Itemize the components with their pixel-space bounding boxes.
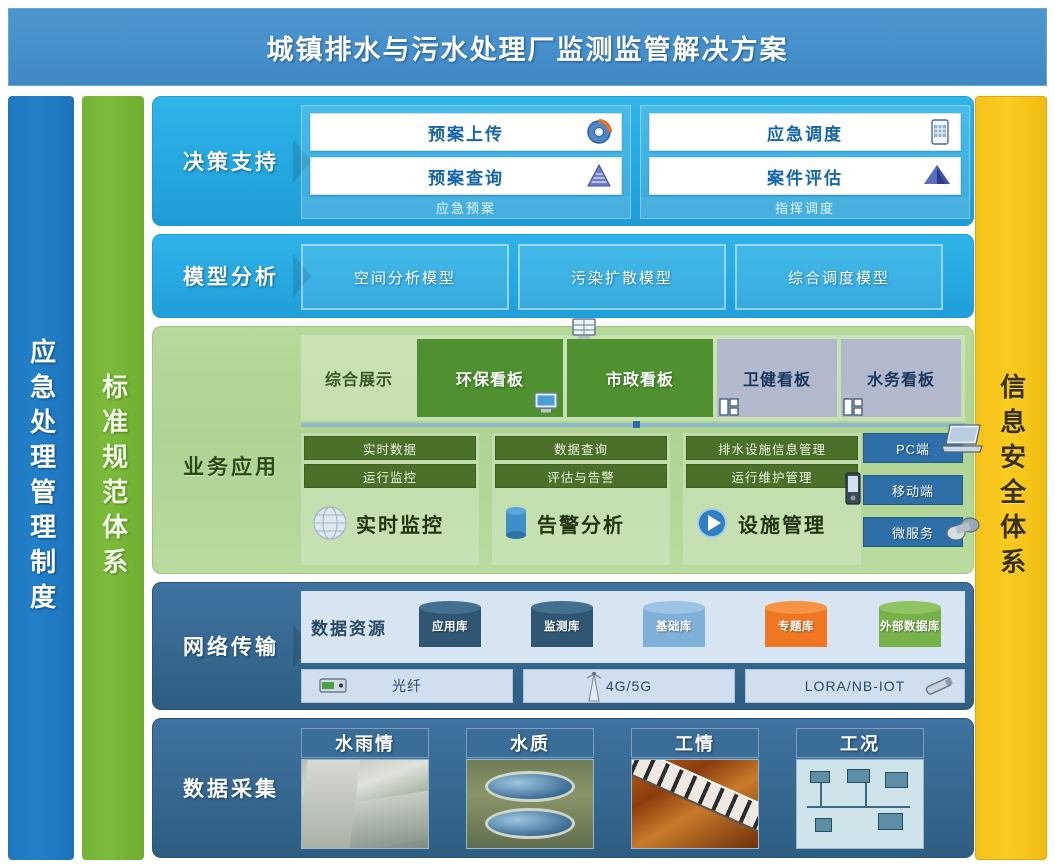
database-icon [501, 503, 531, 543]
layer-model-analysis-label: 模型分析 [167, 261, 295, 291]
button-plan-query-label: 预案查询 [428, 164, 504, 189]
dashboard-card-health-label: 卫健看板 [743, 366, 811, 390]
antenna-icon [582, 671, 606, 703]
sidebar-emergency-management-system[interactable]: 应急处理管理制度 [8, 96, 74, 860]
sensor-icon [922, 673, 958, 699]
client-mobile-label: 移动端 [892, 481, 934, 500]
button-emergency-dispatch[interactable]: 应急调度 [649, 113, 961, 151]
acquisition-card-operating-status-label: 工况 [796, 728, 924, 758]
acquisition-card-rainfall-label: 水雨情 [301, 728, 429, 758]
model-spatial-analysis[interactable]: 空间分析模型 [301, 244, 509, 310]
button-case-assessment[interactable]: 案件评估 [649, 157, 961, 195]
acquisition-card-works-condition-label: 工情 [631, 728, 759, 758]
page-title-bar: 城镇排水与污水处理厂监测监管解决方案 [8, 8, 1047, 86]
layer-decision-support-label: 决策支持 [167, 146, 295, 176]
dashboard-card-municipal-label: 市政看板 [606, 366, 674, 390]
model-pollution-diffusion-label: 污染扩散模型 [571, 267, 673, 288]
chart-icon [719, 397, 739, 417]
dashboard-card-health[interactable]: 卫健看板 [717, 339, 837, 417]
monitor-icon [533, 391, 559, 415]
page-title: 城镇排水与污水处理厂监测监管解决方案 [267, 28, 789, 67]
sidebar-information-security-system[interactable]: 信息安全体系 [975, 96, 1047, 860]
database-monitoring-label: 监测库 [531, 601, 593, 653]
database-thematic-label: 专题库 [765, 601, 827, 653]
decision-group-command-dispatch-label: 指挥调度 [641, 197, 969, 218]
sidebar-standard-specification-label: 标准规范体系 [99, 373, 126, 583]
database-application-label: 应用库 [419, 601, 481, 653]
model-integrated-dispatch-label: 综合调度模型 [788, 267, 890, 288]
data-resources-panel: 数据资源 应用库 监测库 基础库 专题库 外部数据库 [301, 591, 965, 663]
client-pc-label: PC端 [896, 439, 930, 458]
phone-icon [944, 514, 982, 544]
button-data-query[interactable]: 数据查询 [495, 436, 667, 460]
database-basic-label: 基础库 [643, 601, 705, 653]
link-lora-nbiot[interactable]: LORA/NB-IOT [745, 669, 965, 703]
layer-business-application: 业务应用 综合展示 环保看板 市政看板 [152, 326, 974, 574]
model-spatial-analysis-label: 空间分析模型 [354, 267, 456, 288]
dashboard-card-environment-label: 环保看板 [456, 366, 524, 390]
play-circle-icon [692, 503, 732, 543]
sedimentation-tanks-photo [466, 759, 594, 849]
button-drainage-facility-info[interactable]: 排水设施信息管理 [686, 436, 858, 460]
decision-group-emergency-plan: 预案上传 预案查询 应急预案 [301, 105, 631, 219]
database-application[interactable]: 应用库 [419, 601, 481, 653]
button-plan-upload[interactable]: 预案上传 [310, 113, 622, 151]
laptop-icon [940, 422, 984, 456]
acquisition-card-rainfall[interactable]: 水雨情 [301, 728, 429, 850]
database-monitoring[interactable]: 监测库 [531, 601, 593, 653]
dashboard-card-municipal[interactable]: 市政看板 [567, 339, 713, 417]
service-facility-management[interactable]: 设施管理 [686, 492, 858, 554]
decision-group-emergency-plan-label: 应急预案 [302, 197, 630, 218]
sidebar-information-security-label: 信息安全体系 [997, 373, 1024, 583]
button-operation-monitoring[interactable]: 运行监控 [304, 464, 476, 488]
lifebuoy-icon [586, 119, 612, 145]
layer-model-analysis: 模型分析 空间分析模型 污染扩散模型 综合调度模型 [152, 234, 974, 318]
model-pollution-diffusion[interactable]: 污染扩散模型 [518, 244, 726, 310]
sidebar-standard-specification-system[interactable]: 标准规范体系 [82, 96, 144, 860]
buried-pipeline-photo [631, 759, 759, 849]
layer-network-transmission: 网络传输 数据资源 应用库 监测库 基础库 专题库 外部数据库 [152, 582, 974, 710]
button-assessment-alarm[interactable]: 评估与告警 [495, 464, 667, 488]
fiber-box-icon [316, 674, 350, 698]
grid-table-icon [929, 119, 951, 145]
database-thematic[interactable]: 专题库 [765, 601, 827, 653]
model-integrated-dispatch[interactable]: 综合调度模型 [735, 244, 943, 310]
sidebar-emergency-management-label: 应急处理管理制度 [27, 338, 54, 618]
dashboard-card-environment[interactable]: 环保看板 [417, 339, 563, 417]
dashboard-card-water-affairs-label: 水务看板 [867, 366, 935, 390]
globe-icon [310, 503, 350, 543]
business-column-monitoring: 实时数据 运行监控 实时监控 [301, 433, 479, 565]
data-resources-label: 数据资源 [311, 615, 387, 640]
decision-group-command-dispatch: 应急调度 案件评估 [640, 105, 970, 219]
business-function-columns: 实时数据 运行监控 实时监控 数据查询 评估与告警 [301, 433, 861, 565]
layer-data-acquisition: 数据采集 水雨情 水质 工情 工况 [152, 718, 974, 858]
acquisition-card-works-condition[interactable]: 工情 [631, 728, 759, 850]
service-alarm-analysis-label: 告警分析 [537, 509, 625, 538]
architecture-stack: 决策支持 预案上传 预案查询 [152, 96, 974, 864]
dashboard-row: 综合展示 环保看板 市政看板 [301, 335, 965, 421]
dashboard-card-water-affairs[interactable]: 水务看板 [841, 339, 961, 417]
dashboard-section-title: 综合展示 [305, 339, 413, 417]
pyramid-icon [586, 164, 612, 188]
database-external-label: 外部数据库 [879, 601, 941, 653]
service-realtime-monitoring-label: 实时监控 [356, 509, 444, 538]
layer-data-acquisition-label: 数据采集 [167, 773, 295, 803]
river-channel-photo [301, 759, 429, 849]
mobile-icon [842, 472, 864, 506]
client-access-column: PC端 移动端 [863, 433, 963, 565]
button-realtime-data[interactable]: 实时数据 [304, 436, 476, 460]
client-pc[interactable]: PC端 [863, 433, 963, 463]
layer-decision-support: 决策支持 预案上传 预案查询 [152, 96, 974, 226]
button-case-assessment-label: 案件评估 [767, 164, 843, 189]
dashboard-scrollbar[interactable] [301, 423, 965, 427]
database-basic[interactable]: 基础库 [643, 601, 705, 653]
button-plan-query[interactable]: 预案查询 [310, 157, 622, 195]
button-emergency-dispatch-label: 应急调度 [767, 120, 843, 145]
service-facility-management-label: 设施管理 [738, 509, 826, 538]
client-mobile[interactable]: 移动端 [863, 475, 963, 505]
link-fiber[interactable]: 光纤 [301, 669, 513, 703]
database-external[interactable]: 外部数据库 [879, 601, 941, 653]
client-microservice[interactable]: 微服务 [863, 517, 963, 547]
chart-icon [843, 397, 863, 417]
link-lora-nbiot-label: LORA/NB-IOT [805, 678, 905, 694]
window-icon [571, 317, 597, 341]
acquisition-card-water-quality[interactable]: 水质 [466, 728, 594, 850]
link-fiber-label: 光纤 [392, 676, 422, 696]
scada-diagram-photo [796, 759, 924, 849]
transmission-links-row: 光纤 4G/5G LORA/NB-IOT [301, 669, 965, 703]
client-microservice-label: 微服务 [892, 523, 934, 542]
service-alarm-analysis[interactable]: 告警分析 [495, 492, 667, 554]
diamond-icon [923, 164, 951, 188]
button-plan-upload-label: 预案上传 [428, 120, 504, 145]
business-column-facility: 排水设施信息管理 运行维护管理 设施管理 [683, 433, 861, 565]
link-4g-5g-label: 4G/5G [606, 678, 652, 694]
business-column-alarm: 数据查询 评估与告警 告警分析 [492, 433, 670, 565]
link-4g-5g[interactable]: 4G/5G [523, 669, 735, 703]
layer-business-application-label: 业务应用 [167, 451, 295, 481]
acquisition-card-water-quality-label: 水质 [466, 728, 594, 758]
button-operation-maintenance[interactable]: 运行维护管理 [686, 464, 858, 488]
layer-network-transmission-label: 网络传输 [167, 631, 295, 661]
service-realtime-monitoring[interactable]: 实时监控 [304, 492, 476, 554]
acquisition-card-operating-status[interactable]: 工况 [796, 728, 924, 850]
